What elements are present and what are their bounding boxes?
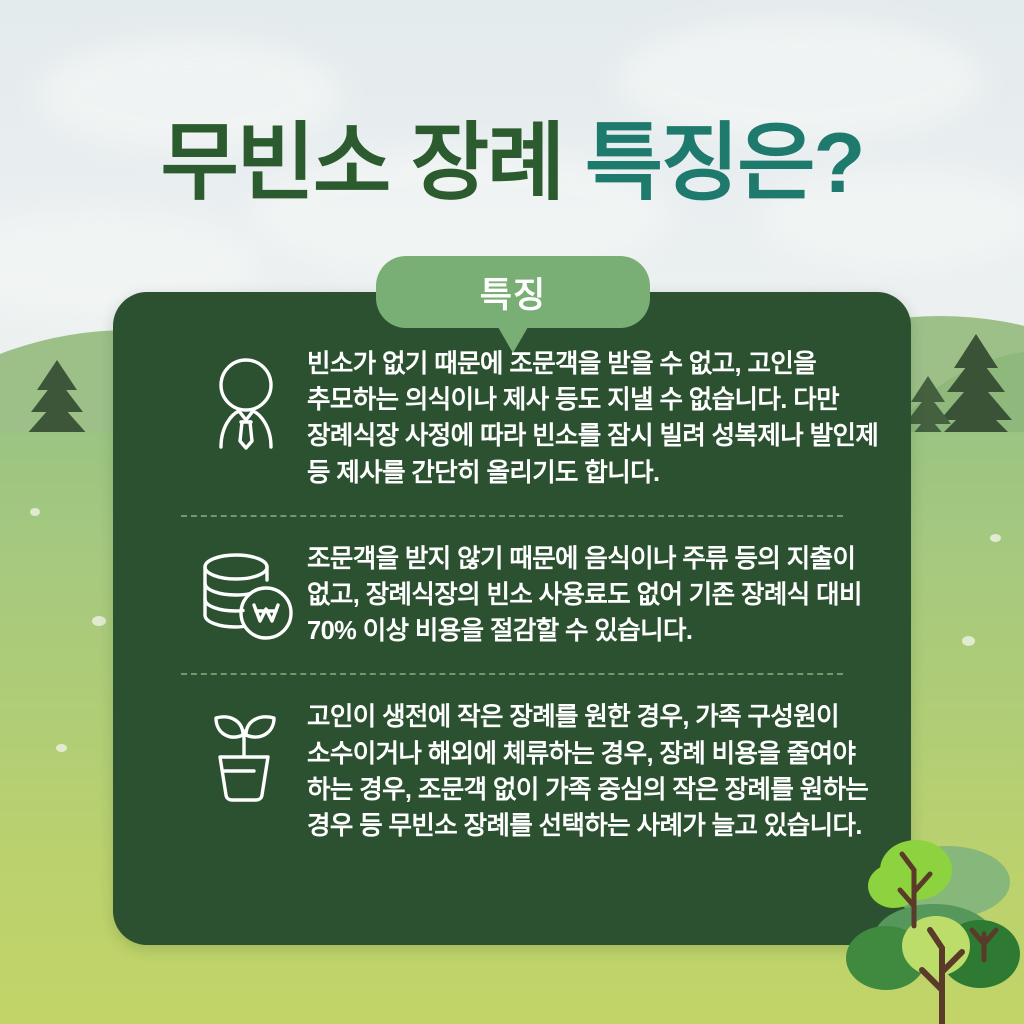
potted-seedling-icon bbox=[198, 705, 294, 805]
list-item: 빈소가 없기 때문에 조문객을 받을 수 없고, 고인을 추모하는 의식이나 제… bbox=[113, 344, 911, 491]
page-title-primary: 무빈소 장례 bbox=[161, 116, 564, 211]
petal-dot bbox=[962, 636, 975, 646]
row-icon-cell bbox=[185, 539, 307, 645]
row-icon-cell bbox=[185, 344, 307, 452]
feature-list: 빈소가 없기 때문에 조문객을 받을 수 없고, 고인을 추모하는 의식이나 제… bbox=[113, 292, 911, 844]
coin-stack-won-icon bbox=[196, 547, 296, 645]
feature-card: 빈소가 없기 때문에 조문객을 받을 수 없고, 고인을 추모하는 의식이나 제… bbox=[113, 292, 911, 945]
petal-dot bbox=[30, 508, 40, 516]
row-icon-cell bbox=[185, 697, 307, 805]
list-item-text: 빈소가 없기 때문에 조문객을 받을 수 없고, 고인을 추모하는 의식이나 제… bbox=[307, 344, 889, 491]
petal-dot bbox=[990, 534, 1001, 542]
list-item: 고인이 생전에 작은 장례를 원한 경우, 가족 구성원이 소수이거나 해외에 … bbox=[113, 697, 911, 844]
list-item: 조문객을 받지 않기 때문에 음식이나 주류 등의 지출이 없고, 장례식장의 … bbox=[113, 539, 911, 650]
page-title-accent: 특징은? bbox=[585, 116, 864, 211]
petal-dot bbox=[56, 744, 67, 752]
section-badge: 특징 bbox=[376, 256, 650, 328]
list-item-text: 조문객을 받지 않기 때문에 음식이나 주류 등의 지출이 없고, 장례식장의 … bbox=[307, 539, 889, 650]
row-divider bbox=[181, 673, 843, 675]
badge-pointer bbox=[498, 327, 528, 353]
person-necktie-icon bbox=[199, 352, 293, 452]
list-item-text: 고인이 생전에 작은 장례를 원한 경우, 가족 구성원이 소수이거나 해외에 … bbox=[307, 697, 889, 844]
section-badge-label: 특징 bbox=[376, 256, 650, 328]
petal-dot bbox=[92, 616, 106, 626]
row-divider bbox=[181, 515, 843, 517]
infographic-poster: 무빈소 장례 특징은? 특징 빈소가 없기 bbox=[0, 0, 1024, 1024]
page-title: 무빈소 장례 특징은? bbox=[0, 119, 1024, 208]
deciduous-tree-icon bbox=[838, 830, 1024, 1024]
